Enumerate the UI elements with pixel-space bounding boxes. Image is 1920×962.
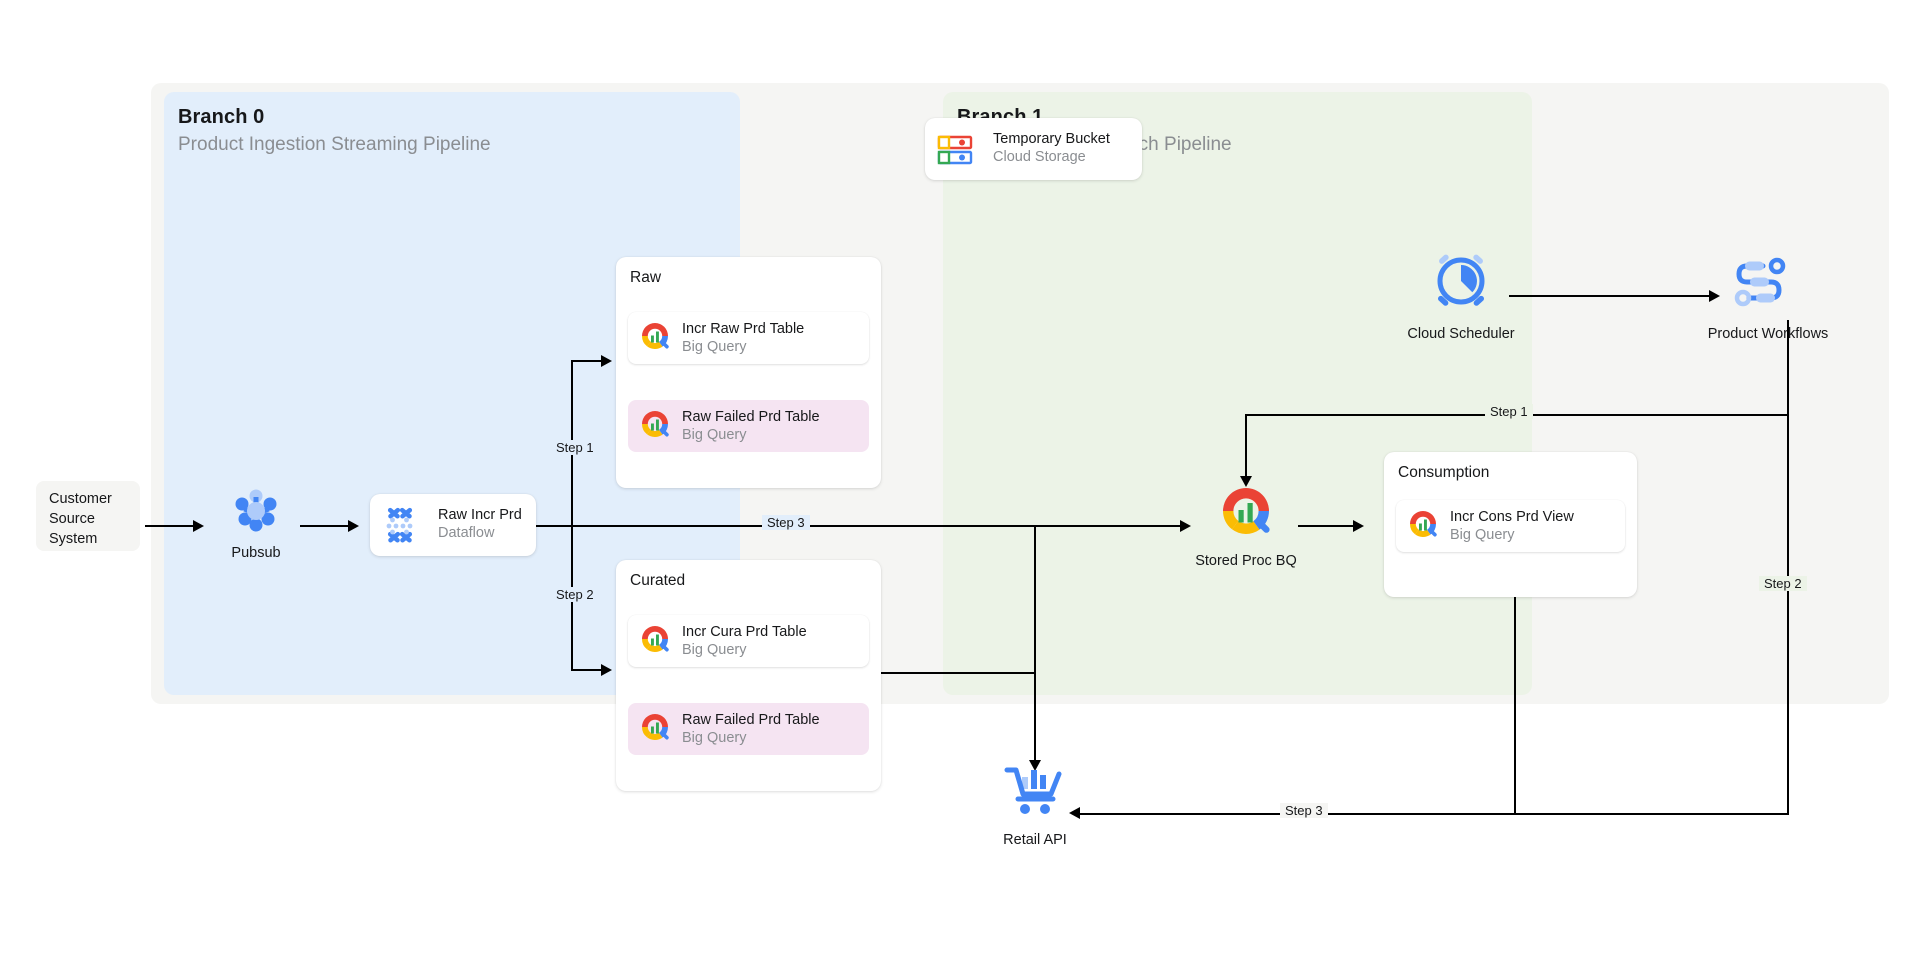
raw-item-raw-failed-prd-table[interactable]: Raw Failed Prd Table Big Query	[628, 400, 869, 452]
arrowhead-step2-to-curated	[601, 664, 612, 676]
step-label-b0-step1: Step 1	[551, 440, 599, 455]
diagram-canvas: Branch 0 Product Ingestion Streaming Pip…	[0, 0, 1920, 962]
raw-group-card: Raw Incr Raw Prd Table Big Query	[616, 257, 881, 488]
connector-curated-to-junction	[881, 672, 1036, 674]
temporary-bucket-subtitle: Cloud Storage	[993, 148, 1110, 166]
arrowhead-step1-to-raw	[601, 355, 612, 367]
step-label-b1-step2: Step 2	[1759, 576, 1807, 591]
dataflow-icon	[381, 507, 419, 545]
connector-scheduler-to-workflows	[1509, 295, 1709, 297]
bigquery-icon	[1216, 484, 1276, 544]
dataflow-subtitle: Dataflow	[438, 524, 522, 542]
connector-b1-step3	[1080, 813, 1789, 815]
curated-group-title: Curated	[630, 572, 685, 590]
connector-branch0-spine	[571, 360, 573, 671]
pubsub-icon	[228, 478, 284, 534]
bigquery-icon	[638, 624, 672, 658]
row-title: Raw Failed Prd Table	[682, 711, 820, 729]
raw-item-incr-raw-prd-table[interactable]: Incr Raw Prd Table Big Query	[628, 312, 869, 364]
bigquery-icon	[638, 409, 672, 443]
connector-junction-to-retail	[1034, 525, 1036, 760]
consumption-group-title: Consumption	[1398, 464, 1489, 482]
connector-consumption-down	[1514, 597, 1516, 814]
temporary-bucket-card[interactable]: Temporary Bucket Cloud Storage	[925, 118, 1142, 180]
source-line-3: System	[49, 529, 140, 549]
row-subtitle: Big Query	[682, 426, 820, 444]
bigquery-icon	[638, 712, 672, 746]
cloud-scheduler-label: Cloud Scheduler	[1381, 326, 1541, 342]
connector-pubsub-to-dataflow	[300, 525, 348, 527]
curated-item-raw-failed-prd-table[interactable]: Raw Failed Prd Table Big Query	[628, 703, 869, 755]
cloud-storage-icon	[937, 132, 973, 168]
raw-group-title: Raw	[630, 269, 661, 287]
row-subtitle: Big Query	[682, 641, 807, 659]
customer-source-system-box: Customer Source System	[36, 481, 140, 551]
branch-0-subtitle: Product Ingestion Streaming Pipeline	[178, 134, 491, 156]
arrowhead-scheduler-to-workflows	[1709, 290, 1720, 302]
step-label-b0-step3: Step 3	[762, 515, 810, 530]
step-label-b1-step1: Step 1	[1485, 404, 1533, 419]
source-line-1: Customer	[49, 489, 140, 509]
connector-storedproc-to-consumption	[1298, 525, 1353, 527]
source-line-2: Source	[49, 509, 140, 529]
cloud-scheduler-icon	[1430, 251, 1492, 313]
row-title: Incr Raw Prd Table	[682, 320, 804, 338]
retail-api-label: Retail API	[975, 832, 1095, 848]
connector-source-to-pubsub	[145, 525, 193, 527]
temporary-bucket-title: Temporary Bucket	[993, 130, 1110, 148]
step-label-b1-step3: Step 3	[1280, 803, 1328, 818]
product-workflows-label: Product Workflows	[1684, 326, 1852, 342]
row-subtitle: Big Query	[682, 338, 804, 356]
connector-step2-to-curated	[571, 669, 601, 671]
bigquery-icon	[1406, 509, 1440, 543]
row-subtitle: Big Query	[682, 729, 820, 747]
row-subtitle: Big Query	[1450, 526, 1574, 544]
curated-item-incr-cura-prd-table[interactable]: Incr Cura Prd Table Big Query	[628, 615, 869, 667]
row-title: Raw Failed Prd Table	[682, 408, 820, 426]
curated-group-card: Curated Incr Cura Prd Table Big Query	[616, 560, 881, 791]
consumption-item-incr-cons-prd-view[interactable]: Incr Cons Prd View Big Query	[1396, 500, 1625, 552]
retail-cart-icon	[1004, 766, 1066, 822]
connector-step1-to-raw	[571, 360, 601, 362]
connector-workflows-spine	[1787, 320, 1789, 814]
row-title: Incr Cura Prd Table	[682, 623, 807, 641]
branch-1-panel: Branch 1 Product Ingestion Batch Pipelin…	[943, 92, 1532, 695]
connector-step3-main	[536, 525, 1180, 527]
arrowhead-source-to-pubsub	[193, 520, 204, 532]
consumption-group-card: Consumption Incr Cons Prd View Big Query	[1384, 452, 1637, 597]
arrowhead-storedproc-to-consumption	[1353, 520, 1364, 532]
connector-b1-step1-down	[1245, 414, 1247, 476]
bigquery-icon	[638, 321, 672, 355]
stored-proc-bq-label: Stored Proc BQ	[1171, 553, 1321, 569]
workflows-icon	[1731, 252, 1791, 312]
pubsub-label: Pubsub	[192, 545, 320, 561]
branch-0-title: Branch 0	[178, 106, 264, 129]
arrowhead-b1-step3-to-retail	[1069, 807, 1080, 819]
arrowhead-pubsub-to-dataflow	[348, 520, 359, 532]
dataflow-card[interactable]: Raw Incr Prd Dataflow	[370, 494, 536, 556]
row-title: Incr Cons Prd View	[1450, 508, 1574, 526]
step-label-b0-step2: Step 2	[551, 587, 599, 602]
dataflow-title: Raw Incr Prd	[438, 506, 522, 524]
arrowhead-step3-to-storedproc	[1180, 520, 1191, 532]
